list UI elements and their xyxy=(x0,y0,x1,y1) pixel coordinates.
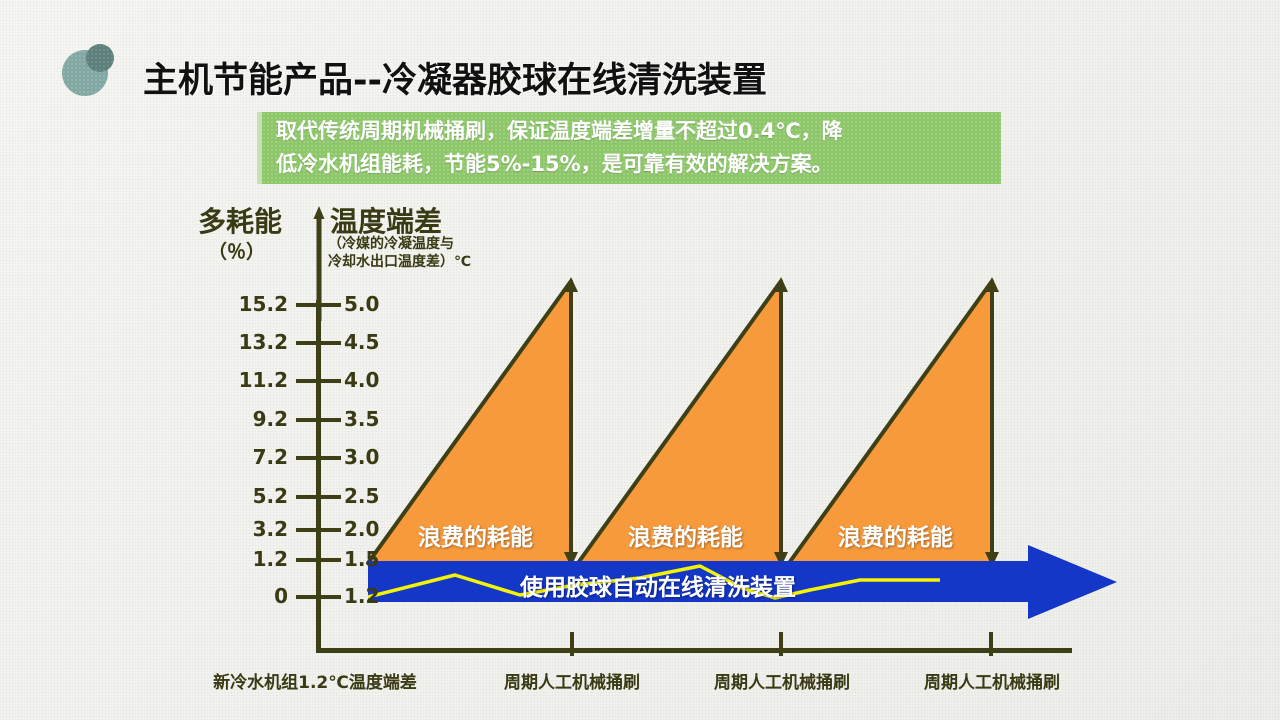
right-axis-subtitle-line-2: 冷却水出口温度差）℃ xyxy=(328,253,471,271)
y-tick-label-right: 5.0 xyxy=(344,292,379,316)
x-label-2: 周期人工机械捅刷 xyxy=(677,668,887,693)
y-tick-mark xyxy=(296,418,341,422)
banner-line-1: 取代传统周期机械捅刷，保证温度端差增量不超过0.4℃，降 xyxy=(276,115,991,148)
triangle-label-2: 浪费的耗能 xyxy=(628,518,743,552)
chart-plot-area xyxy=(0,0,1280,720)
x-axis-line xyxy=(316,648,1072,653)
y-tick-label-left: 7.2 xyxy=(196,445,288,469)
y-tick-label-left: 9.2 xyxy=(196,407,288,431)
y-tick-mark xyxy=(296,495,341,499)
y-axis-line xyxy=(316,300,321,652)
banner-line-2: 低冷水机组能耗，节能5%-15%，是可靠有效的解决方案。 xyxy=(276,148,991,181)
y-tick-mark xyxy=(296,528,341,532)
y-tick-mark xyxy=(296,558,341,562)
y-tick-label-right: 2.0 xyxy=(344,517,379,541)
triangle-label-1: 浪费的耗能 xyxy=(418,518,533,552)
left-axis-unit: （％） xyxy=(208,237,265,264)
y-tick-label-right: 3.0 xyxy=(344,445,379,469)
right-axis-title: 温度端差 xyxy=(330,200,442,240)
y-tick-label-left: 3.2 xyxy=(196,517,288,541)
slide-canvas: 主机节能产品--冷凝器胶球在线清洗装置 取代传统周期机械捅刷，保证温度端差增量不… xyxy=(0,0,1280,720)
right-axis-subtitle: （冷媒的冷凝温度与 冷却水出口温度差）℃ xyxy=(328,235,471,271)
x-label-3: 周期人工机械捅刷 xyxy=(887,668,1097,693)
y-tick-mark xyxy=(296,341,341,345)
band-label: 使用胶球自动在线清洗装置 xyxy=(368,568,948,602)
y-tick-label-right: 2.5 xyxy=(344,484,379,508)
y-tick-mark xyxy=(296,303,341,307)
y-tick-label-left: 5.2 xyxy=(196,484,288,508)
y-tick-label-left: 11.2 xyxy=(196,368,288,392)
y-tick-label-right: 3.5 xyxy=(344,407,379,431)
right-axis-subtitle-line-1: （冷媒的冷凝温度与 xyxy=(328,235,471,253)
x-label-0: 新冷水机组1.2℃温度端差 xyxy=(185,668,445,693)
x-label-1: 周期人工机械捅刷 xyxy=(467,668,677,693)
y-tick-label-left: 1.2 xyxy=(196,547,288,571)
page-title: 主机节能产品--冷凝器胶球在线清洗装置 xyxy=(143,52,767,103)
logo-circle-small xyxy=(86,44,114,72)
y-tick-label-left: 0 xyxy=(196,584,288,608)
y-tick-label-right: 4.5 xyxy=(344,330,379,354)
y-tick-label-left: 15.2 xyxy=(196,292,288,316)
left-axis-title: 多耗能 xyxy=(198,200,282,240)
y-tick-label-right: 4.0 xyxy=(344,368,379,392)
y-tick-mark xyxy=(296,456,341,460)
triangle-label-3: 浪费的耗能 xyxy=(838,518,953,552)
y-tick-label-left: 13.2 xyxy=(196,330,288,354)
y-tick-mark xyxy=(296,379,341,383)
summary-banner: 取代传统周期机械捅刷，保证温度端差增量不超过0.4℃，降 低冷水机组能耗，节能5… xyxy=(257,112,1001,184)
y-tick-mark xyxy=(296,595,341,599)
two-circles-logo-icon xyxy=(62,42,124,104)
